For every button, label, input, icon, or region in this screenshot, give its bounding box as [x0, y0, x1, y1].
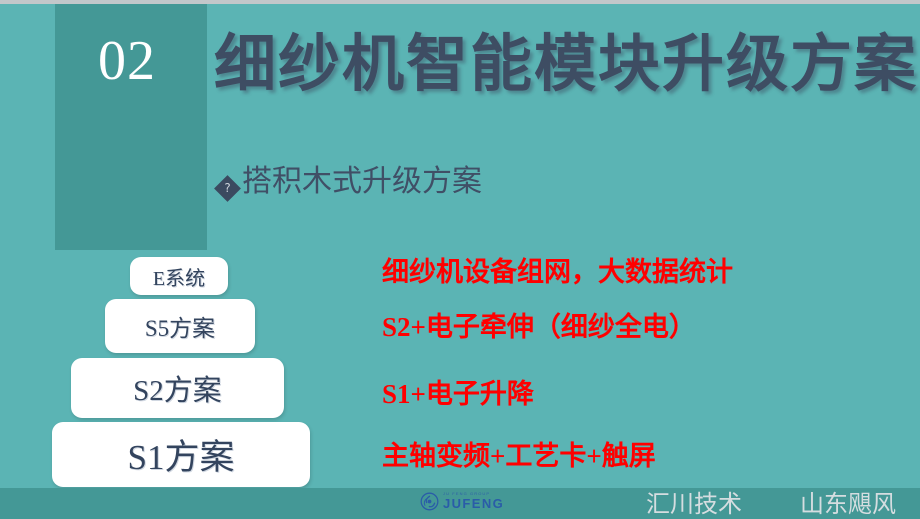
pyramid-step-label: S5方案 — [145, 309, 215, 343]
pyramid-step-label: S2方案 — [133, 367, 222, 409]
pyramid-step-s1[interactable]: S1方案 — [52, 422, 310, 487]
jufeng-logo-wordmark: JUFENG — [443, 497, 504, 510]
pyramid-step-s2[interactable]: S2方案 — [71, 358, 284, 418]
diamond-bullet-icon: ? — [214, 175, 241, 202]
slide-subtitle: ?搭积木式升级方案 — [218, 163, 482, 201]
pyramid-step-s5[interactable]: S5方案 — [105, 299, 255, 353]
footer-company-shandong-jufeng: 山东飓风 — [800, 492, 896, 518]
slide-subtitle-label: 搭积木式升级方案 — [242, 165, 482, 198]
section-number: 02 — [98, 30, 198, 92]
page-title: 细纱机智能模块升级方案 — [214, 26, 918, 102]
footer-company-inovance: 汇川技术 — [646, 492, 742, 518]
pyramid-step-label: E系统 — [153, 262, 205, 291]
pyramid-step-e-system[interactable]: E系统 — [130, 257, 228, 295]
jufeng-logo: JU FENG GROUP JUFENG — [420, 488, 504, 514]
jufeng-emblem-icon — [420, 492, 439, 511]
description-line-s2: S1+电子升降 — [382, 372, 534, 411]
description-line-e-system: 细纱机设备组网，大数据统计 — [382, 250, 733, 289]
diamond-bullet-glyph: ? — [218, 179, 237, 198]
description-line-s1: 主轴变频+工艺卡+触屏 — [382, 434, 656, 473]
presentation-slide: 02 细纱机智能模块升级方案 ?搭积木式升级方案 E系统 S5方案 S2方案 S… — [0, 0, 920, 519]
jufeng-logo-text: JU FENG GROUP JUFENG — [443, 492, 504, 510]
description-line-s5: S2+电子牵伸（细纱全电） — [382, 305, 696, 344]
pyramid-step-label: S1方案 — [128, 429, 235, 480]
